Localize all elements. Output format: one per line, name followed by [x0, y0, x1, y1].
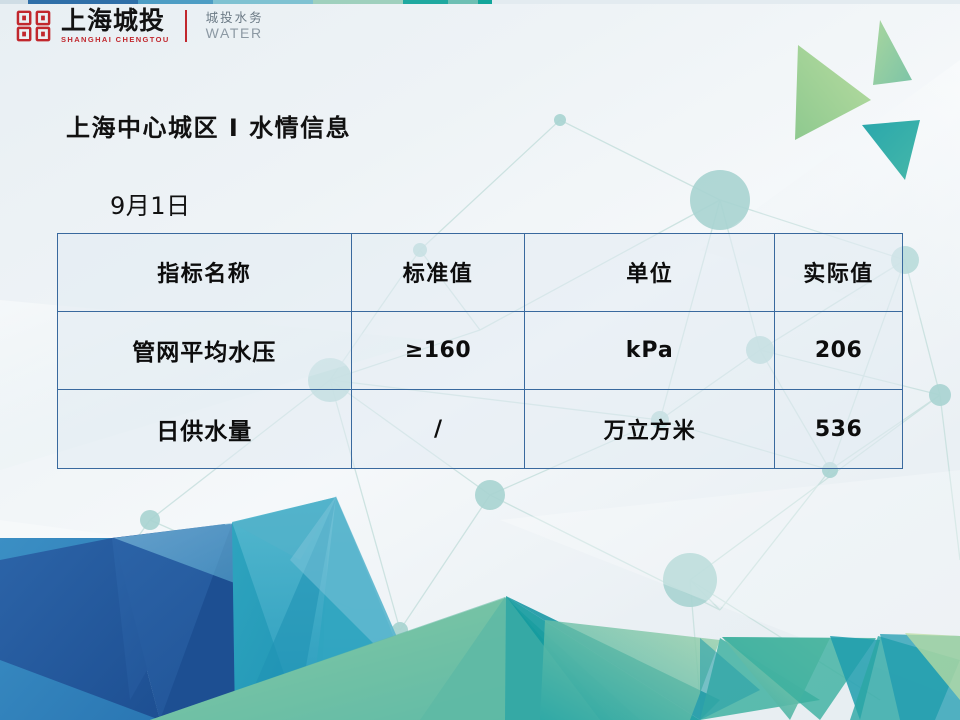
column-header-actual: 实际值: [775, 234, 903, 312]
column-header-indicator: 指标名称: [58, 234, 352, 312]
table-header-row: 指标名称 标准值 单位 实际值: [58, 234, 903, 312]
cell-unit: 万立方米: [525, 390, 775, 469]
slide-canvas: 上海城投 SHANGHAI CHENGTOU 城投水务 WATER 上海中心城区…: [0, 0, 960, 720]
brand-logo: 上海城投 SHANGHAI CHENGTOU 城投水务 WATER: [16, 8, 264, 44]
division-name-en: WATER: [206, 25, 264, 42]
water-info-table-wrapper: 指标名称 标准值 单位 实际值 管网平均水压 ≥160 kPa 206 日供水量…: [57, 233, 903, 469]
column-header-unit: 单位: [525, 234, 775, 312]
cell-standard-value: ≥160: [351, 311, 525, 390]
cell-actual-value: 536: [775, 390, 903, 469]
column-header-standard: 标准值: [351, 234, 525, 312]
division-name-cn: 城投水务: [206, 10, 264, 26]
water-info-table: 指标名称 标准值 单位 实际值 管网平均水压 ≥160 kPa 206 日供水量…: [57, 233, 903, 469]
cell-indicator-name: 管网平均水压: [58, 311, 352, 390]
table-row: 管网平均水压 ≥160 kPa 206: [58, 311, 903, 390]
date-label: 9月1日: [110, 186, 191, 221]
cell-actual-value: 206: [775, 311, 903, 390]
chengtou-logo-icon: [16, 9, 52, 43]
cell-standard-value: /: [351, 390, 525, 469]
brand-name-en: SHANGHAI CHENGTOU: [61, 35, 170, 44]
table-row: 日供水量 / 万立方米 536: [58, 390, 903, 469]
cell-indicator-name: 日供水量: [58, 390, 352, 469]
brand-name-cn: 上海城投: [61, 8, 165, 34]
page-title: 上海中心城区 Ⅰ 水情信息: [66, 108, 351, 143]
logo-divider: [185, 10, 187, 42]
cell-unit: kPa: [525, 311, 775, 390]
